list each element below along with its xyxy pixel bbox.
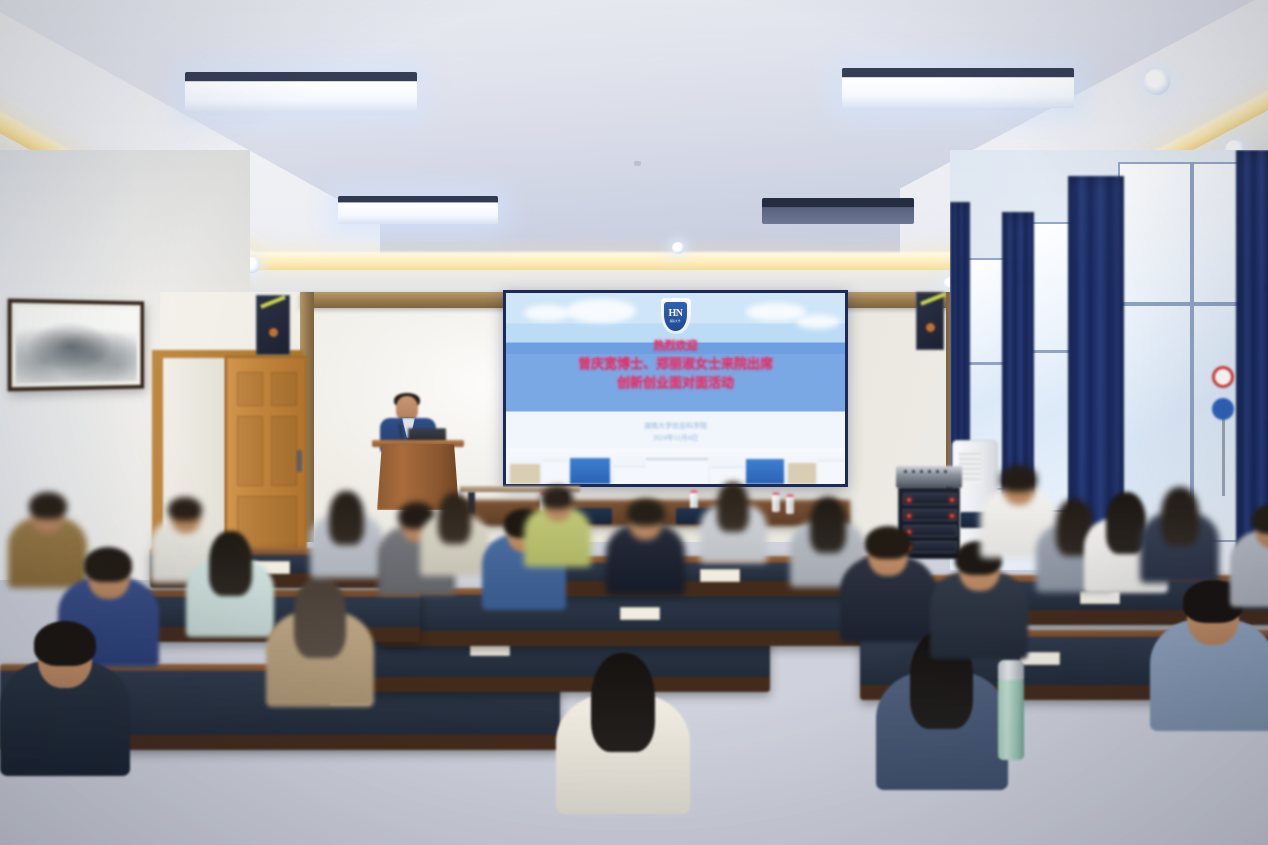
- slide-footer-block: 湖南大学信息科学院 2024年11月4日: [506, 421, 845, 445]
- amplifier-unit: [903, 493, 957, 505]
- audience-member: [1230, 498, 1268, 616]
- bench-seat-label: [700, 569, 740, 582]
- audience-hair: [1161, 487, 1199, 546]
- audience-hair: [294, 577, 346, 658]
- building-shape: [818, 460, 845, 484]
- audience-member: [420, 488, 489, 583]
- ceiling-downlight: [672, 242, 684, 254]
- cloud-shape: [524, 305, 570, 321]
- direction-sign-icon: [1212, 398, 1234, 420]
- audience-hair: [29, 492, 67, 519]
- wall-painting: [8, 299, 145, 392]
- slide-headline: 热烈欢迎: [506, 339, 845, 355]
- audience-member: [524, 482, 591, 574]
- audience-member: [606, 494, 685, 603]
- cloud-shape: [796, 315, 840, 329]
- audience-hair: [84, 547, 132, 582]
- audience-hair: [717, 482, 749, 532]
- power-led-icon: [907, 514, 911, 518]
- building-shape: [510, 464, 540, 484]
- slide-line-2: 曾庆宽博士、郑丽淑女士来院出席: [506, 355, 845, 374]
- audience-member: [700, 478, 767, 570]
- projection-screen: HN 湖南大学 热烈欢迎 曾庆宽博士、郑丽淑女士来院出席 创新创业面对面活动 湖…: [503, 290, 848, 487]
- water-bottle: [772, 492, 780, 512]
- audience-hair: [209, 531, 252, 596]
- power-led-icon: [907, 498, 911, 502]
- door-handle[interactable]: [297, 450, 302, 472]
- audience-member: [186, 525, 274, 646]
- power-led-icon: [950, 514, 954, 518]
- door-panel: [271, 416, 297, 486]
- audience-hair: [541, 486, 573, 509]
- audience-hair: [1000, 465, 1037, 492]
- speaker-cone-icon: [269, 328, 278, 337]
- audience-hair: [627, 499, 665, 526]
- building-shape: [570, 458, 610, 484]
- curtain-panel[interactable]: [1236, 150, 1268, 550]
- lecture-hall-photo: HN 湖南大学 热烈欢迎 曾庆宽博士、郑丽淑女士来院出席 创新创业面对面活动 湖…: [0, 0, 1268, 845]
- speaker-stripe: [920, 292, 946, 305]
- wall-speaker-icon: [916, 292, 944, 350]
- power-led-icon: [950, 498, 954, 502]
- ceiling-led-panel: [762, 198, 914, 224]
- logo-shield-inner: HN 湖南大学: [664, 302, 687, 331]
- audience-hair: [34, 621, 96, 666]
- projected-slide: HN 湖南大学 热烈欢迎 曾庆宽博士、郑丽淑女士来院出席 创新创业面对面活动 湖…: [506, 293, 845, 484]
- building-shape: [646, 458, 708, 484]
- speaker-cone-icon: [926, 323, 935, 332]
- ceiling-downlight: [1144, 69, 1170, 95]
- audience-hair: [1252, 504, 1268, 534]
- slide-text-block: 热烈欢迎 曾庆宽博士、郑丽淑女士来院出席 创新创业面对面活动: [506, 339, 845, 393]
- bench-seat-label: [620, 607, 660, 620]
- water-bottle: [690, 490, 698, 510]
- door-panel: [237, 416, 263, 486]
- door-panel: [271, 372, 297, 406]
- ceiling-led-panel: [185, 72, 417, 112]
- audio-mixer-console[interactable]: [896, 466, 962, 488]
- slide-footer-org: 湖南大学信息科学院: [506, 421, 845, 433]
- slide-campus-photo: [506, 448, 845, 484]
- smoke-detector-icon: [634, 161, 641, 166]
- building-shape: [542, 460, 568, 484]
- painting-mat: [12, 303, 141, 388]
- slide-footer-date: 2024年11月4日: [506, 433, 845, 445]
- no-left-turn-sign-icon: [1212, 366, 1234, 388]
- logo-letters: HN: [669, 309, 683, 319]
- audience-member: [310, 486, 383, 586]
- ceiling-led-panel: [338, 196, 498, 224]
- ac-vent-icon: [959, 453, 981, 483]
- university-logo-icon: HN 湖南大学: [661, 298, 691, 334]
- audience-member: [556, 644, 690, 828]
- audience-hair: [438, 493, 471, 544]
- slide-line-3: 创新创业面对面活动: [506, 374, 845, 393]
- logo-subtext: 湖南大学: [670, 320, 681, 323]
- audience-member: [266, 570, 374, 718]
- audience-hair: [865, 526, 911, 559]
- audience-hair: [591, 653, 655, 752]
- vacuum-flask-cap: [998, 660, 1024, 680]
- ceiling-led-panel: [842, 68, 1074, 108]
- audience-hair: [329, 491, 364, 545]
- audience-hair: [168, 497, 202, 521]
- vacuum-flask: [998, 676, 1024, 760]
- building-shape: [788, 463, 816, 484]
- door-panel: [237, 372, 263, 406]
- painting-artwork: [16, 307, 137, 383]
- cloud-shape: [566, 299, 636, 323]
- speaker-stripe: [260, 295, 286, 308]
- wall-speaker-icon: [256, 295, 290, 355]
- audience-member: [0, 612, 130, 790]
